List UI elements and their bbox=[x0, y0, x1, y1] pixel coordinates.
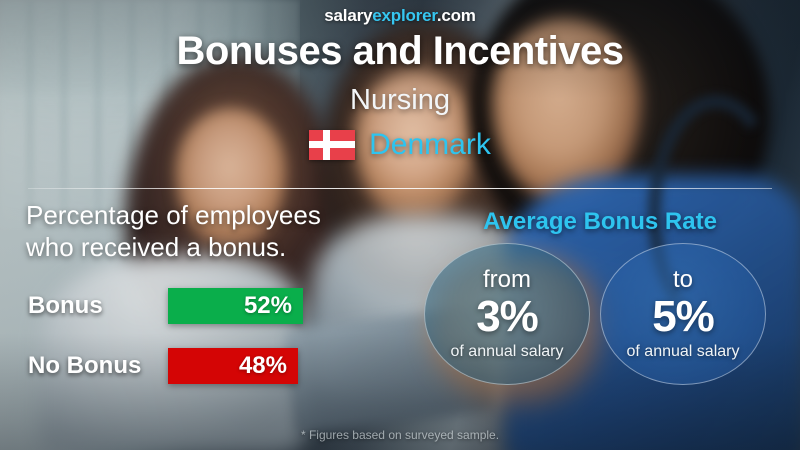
denmark-flag-icon bbox=[309, 130, 355, 160]
country-name: Denmark bbox=[369, 128, 491, 162]
header-divider bbox=[28, 188, 772, 189]
page-subtitle: Nursing bbox=[0, 84, 800, 117]
average-bonus-rate-title: Average Bonus Rate bbox=[420, 208, 780, 236]
site-logo-primary: salary bbox=[324, 6, 372, 25]
circle-to-value: 5% bbox=[652, 294, 714, 340]
circle-to-note: of annual salary bbox=[627, 344, 740, 360]
circle-from-note: of annual salary bbox=[451, 344, 564, 360]
bar-value-no-bonus: 48% bbox=[239, 352, 287, 380]
infographic-canvas: salaryexplorer.com Bonuses and Incentive… bbox=[0, 0, 800, 450]
bar-value-bonus: 52% bbox=[244, 292, 292, 320]
bar-row-bonus: Bonus 52% bbox=[28, 292, 308, 320]
country-row: Denmark bbox=[0, 128, 800, 162]
site-logo-accent: explorer bbox=[372, 6, 437, 25]
caption-line-1: Percentage of employees bbox=[26, 200, 321, 232]
site-logo[interactable]: salaryexplorer.com bbox=[0, 6, 800, 26]
footnote: * Figures based on surveyed sample. bbox=[0, 428, 800, 442]
page-title: Bonuses and Incentives bbox=[0, 29, 800, 74]
bar-bonus: 52% bbox=[168, 288, 303, 324]
bonus-rate-circle-to: to 5% of annual salary bbox=[600, 243, 766, 385]
circle-from-word: from bbox=[483, 268, 531, 292]
caption-line-2: who received a bonus. bbox=[26, 232, 321, 264]
circle-from-value: 3% bbox=[476, 294, 538, 340]
bonus-rate-circle-from: from 3% of annual salary bbox=[424, 243, 590, 385]
site-logo-suffix: .com bbox=[437, 6, 476, 25]
circle-to-word: to bbox=[673, 268, 693, 292]
bar-row-no-bonus: No Bonus 48% bbox=[28, 352, 308, 380]
bar-label-no-bonus: No Bonus bbox=[28, 352, 141, 380]
bonus-percentage-caption: Percentage of employees who received a b… bbox=[26, 200, 321, 263]
flag-cross-horizontal bbox=[309, 141, 355, 148]
bar-no-bonus: 48% bbox=[168, 348, 298, 384]
bar-label-bonus: Bonus bbox=[28, 292, 103, 320]
